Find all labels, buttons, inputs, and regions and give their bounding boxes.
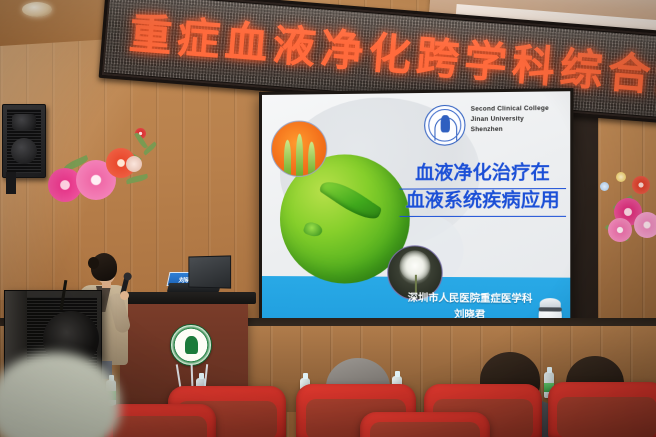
projection-screen: Second Clinical College Jinan University… [259, 88, 573, 354]
slide-title-line-2: 血液系统疾病应用 [400, 189, 567, 217]
institution-logo: Second Clinical College Jinan University… [424, 104, 549, 146]
flower-icon [608, 218, 632, 242]
ceiling-light-icon [22, 2, 52, 17]
logo-line-1: Second Clinical College [471, 104, 549, 115]
institution-logo-text: Second Clinical College Jinan University… [471, 104, 549, 136]
presenter-hand [120, 291, 129, 300]
flower-icon [632, 176, 650, 194]
logo-line-3: Shenzhen [471, 124, 549, 135]
speaker-woofer [11, 138, 37, 164]
auditorium-seat [360, 412, 490, 437]
auditorium-seat [104, 404, 216, 437]
projected-slide: Second Clinical College Jinan University… [262, 91, 570, 351]
university-seal-icon [424, 105, 465, 146]
auditorium-seat [548, 382, 656, 437]
speaker-bracket [6, 172, 16, 194]
seal-figure [440, 116, 449, 133]
orange-circle-inset [271, 120, 327, 177]
podium-top-surface [114, 292, 256, 304]
hospital-emblem-icon [170, 324, 212, 366]
slide-footer-department: 深圳市人民医院重症医学科 [383, 291, 557, 308]
logo-line-2: Jinan University [471, 114, 549, 125]
presenter-hair-bun [88, 257, 99, 269]
flower-icon [600, 182, 609, 191]
flower-icon [616, 172, 626, 182]
seal-arc [434, 117, 457, 141]
auditorium-photo: 重症血液净化跨学科综合治 [0, 0, 656, 437]
flower-icon [126, 156, 142, 172]
laptop-screen [188, 255, 231, 288]
wall-mounted-speaker [2, 104, 46, 178]
slide-title-line-1: 血液净化治疗在 [400, 161, 567, 189]
speaker-tweeter [12, 114, 36, 130]
mascot-band [539, 307, 562, 311]
slide-title: 血液净化治疗在 血液系统疾病应用 [400, 161, 567, 217]
flower-icon [634, 212, 656, 238]
